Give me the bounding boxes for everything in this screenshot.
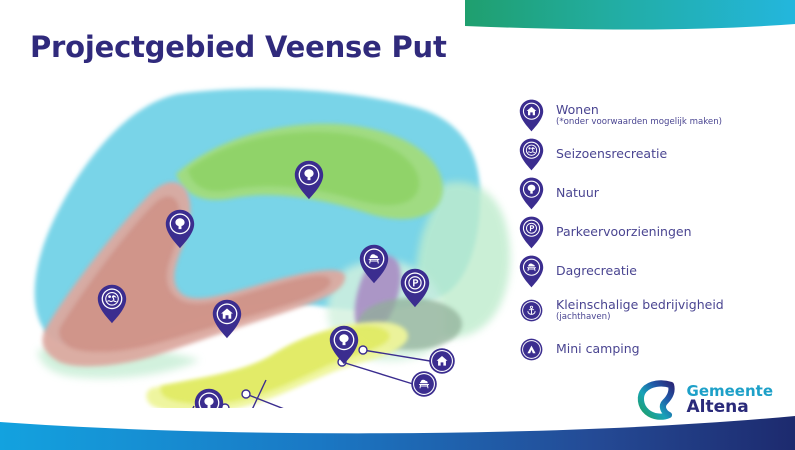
top-right-gradient-band bbox=[465, 0, 795, 32]
house-pin-icon bbox=[514, 96, 548, 134]
legend-item-dagrecreatie[interactable]: Dagrecreatie bbox=[514, 252, 784, 290]
parking-pin-icon bbox=[514, 213, 548, 251]
map-canvas bbox=[18, 78, 518, 408]
beach-recreation-pin-icon bbox=[514, 135, 548, 173]
legend-item-label: Wonen bbox=[556, 102, 722, 118]
legend-item-natuur[interactable]: Natuur bbox=[514, 174, 784, 212]
map-marker-house-circle[interactable] bbox=[429, 348, 455, 374]
legend-item-label: Natuur bbox=[556, 185, 599, 201]
leader-line bbox=[342, 362, 413, 384]
legend-item-text: Wonen(*onder voorwaarden mogelijk maken) bbox=[556, 102, 722, 129]
legend-item-wonen[interactable]: Wonen(*onder voorwaarden mogelijk maken) bbox=[514, 96, 784, 134]
legend-item-text: Parkeervoorzieningen bbox=[556, 224, 692, 240]
legend-item-label: Dagrecreatie bbox=[556, 263, 637, 279]
legend: Wonen(*onder voorwaarden mogelijk maken)… bbox=[514, 96, 784, 369]
gemeente-altena-logo[interactable]: Gemeente Altena bbox=[635, 378, 773, 422]
anchor-circle-icon bbox=[514, 291, 548, 329]
tree-pin-icon bbox=[514, 174, 548, 212]
legend-item-parkeervoorzieningen[interactable]: Parkeervoorzieningen bbox=[514, 213, 784, 251]
poster-root: Projectgebied Veense Put bbox=[0, 0, 795, 450]
legend-item-text: Seizoensrecreatie bbox=[556, 146, 667, 162]
legend-item-label: Mini camping bbox=[556, 341, 640, 357]
legend-item-mini-camping[interactable]: Mini camping bbox=[514, 330, 784, 368]
legend-item-kleinschalige-bedrijvigheid[interactable]: Kleinschalige bedrijvigheid(jachthaven) bbox=[514, 291, 784, 329]
map-marker-picnic-bench-circle[interactable] bbox=[411, 371, 437, 397]
legend-item-sublabel: (*onder voorwaarden mogelijk maken) bbox=[556, 117, 722, 128]
altena-logo-mark bbox=[635, 378, 681, 422]
legend-item-label: Seizoensrecreatie bbox=[556, 146, 667, 162]
leader-endpoint bbox=[242, 390, 250, 398]
legend-item-text: Kleinschalige bedrijvigheid(jachthaven) bbox=[556, 297, 724, 324]
leader-endpoint bbox=[359, 346, 367, 354]
legend-item-text: Dagrecreatie bbox=[556, 263, 637, 279]
picnic-bench-pin-icon bbox=[514, 252, 548, 290]
legend-item-seizoensrecreatie[interactable]: Seizoensrecreatie bbox=[514, 135, 784, 173]
tent-circle-icon bbox=[514, 330, 548, 368]
legend-item-label: Kleinschalige bedrijvigheid bbox=[556, 297, 724, 313]
project-area-map bbox=[18, 78, 518, 408]
legend-item-sublabel: (jachthaven) bbox=[556, 312, 724, 323]
page-title: Projectgebied Veense Put bbox=[30, 30, 447, 64]
legend-item-label: Parkeervoorzieningen bbox=[556, 224, 692, 240]
legend-item-text: Mini camping bbox=[556, 341, 640, 357]
legend-item-text: Natuur bbox=[556, 185, 599, 201]
logo-line-two: Altena bbox=[687, 399, 773, 416]
